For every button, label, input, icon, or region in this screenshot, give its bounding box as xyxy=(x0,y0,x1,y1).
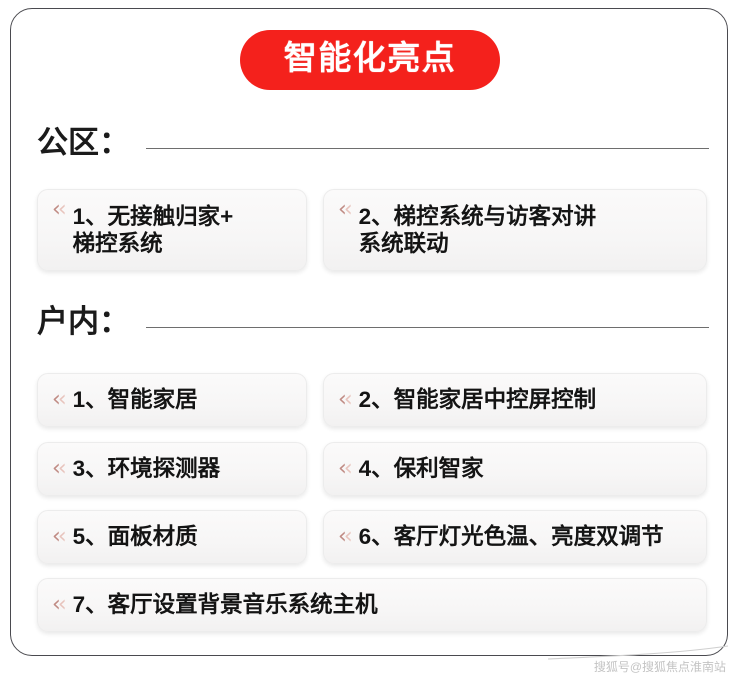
list-item-label: 1、无接触归家+ 梯控系统 xyxy=(73,203,234,258)
list-item-label: 5、面板材质 xyxy=(73,523,198,550)
list-item-label: 2、智能家居中控屏控制 xyxy=(359,386,597,413)
chevron-double-left-icon: ‹‹ xyxy=(338,199,350,221)
chevron-double-left-icon: ‹‹ xyxy=(52,526,64,548)
chevron-double-left-icon: ‹‹ xyxy=(338,458,350,480)
chevron-double-left-icon: ‹‹ xyxy=(338,389,350,411)
card-row: ‹‹ 1、智能家居 ‹‹ 2、智能家居中控屏控制 xyxy=(11,373,729,427)
list-item-label: 1、智能家居 xyxy=(73,386,198,413)
title-bar: 智能化亮点 xyxy=(11,30,729,90)
chevron-double-left-icon: ‹‹ xyxy=(52,389,64,411)
card-row: ‹‹ 1、无接触归家+ 梯控系统 ‹‹ 2、梯控系统与访客对讲 系统联动 xyxy=(11,189,729,271)
section-heading-public-area: 公区： xyxy=(11,127,729,158)
section-heading-label: 公区： xyxy=(37,127,130,158)
list-item-label: 6、客厅灯光色温、亮度双调节 xyxy=(359,523,664,550)
chevron-double-left-icon: ‹‹ xyxy=(338,526,350,548)
watermark: 搜狐号@搜狐焦点淮南站 xyxy=(520,633,740,673)
card-row: ‹‹ 5、面板材质 ‹‹ 6、客厅灯光色温、亮度双调节 xyxy=(11,510,729,564)
page-title: 智能化亮点 xyxy=(284,39,457,76)
title-pill: 智能化亮点 xyxy=(240,30,501,90)
section-heading-indoor: 户内： xyxy=(11,306,729,337)
section-heading-rule xyxy=(146,327,709,328)
list-item-label: 4、保利智家 xyxy=(359,455,484,482)
list-item[interactable]: ‹‹ 4、保利智家 xyxy=(323,442,707,496)
card-row: ‹‹ 3、环境探测器 ‹‹ 4、保利智家 xyxy=(11,442,729,496)
section-heading-label: 户内： xyxy=(37,306,130,337)
list-item[interactable]: ‹‹ 6、客厅灯光色温、亮度双调节 xyxy=(323,510,707,564)
list-item[interactable]: ‹‹ 3、环境探测器 xyxy=(37,442,307,496)
watermark-label: 搜狐号@搜狐焦点淮南站 xyxy=(594,658,726,675)
list-item-label: 7、客厅设置背景音乐系统主机 xyxy=(73,591,378,618)
list-item-label: 2、梯控系统与访客对讲 系统联动 xyxy=(359,203,597,258)
list-item[interactable]: ‹‹ 7、客厅设置背景音乐系统主机 xyxy=(37,578,707,632)
chevron-double-left-icon: ‹‹ xyxy=(52,199,64,221)
list-item-label: 3、环境探测器 xyxy=(73,455,221,482)
list-item[interactable]: ‹‹ 1、无接触归家+ 梯控系统 xyxy=(37,189,307,271)
list-item[interactable]: ‹‹ 2、梯控系统与访客对讲 系统联动 xyxy=(323,189,707,271)
card-row: ‹‹ 7、客厅设置背景音乐系统主机 xyxy=(11,578,729,632)
list-item[interactable]: ‹‹ 1、智能家居 xyxy=(37,373,307,427)
chevron-double-left-icon: ‹‹ xyxy=(52,594,64,616)
chevron-double-left-icon: ‹‹ xyxy=(52,458,64,480)
list-item[interactable]: ‹‹ 2、智能家居中控屏控制 xyxy=(323,373,707,427)
page-frame: 智能化亮点 公区： ‹‹ 1、无接触归家+ 梯控系统 ‹‹ 2、梯控系统与访客对… xyxy=(10,8,728,656)
section-heading-rule xyxy=(146,148,709,149)
list-item[interactable]: ‹‹ 5、面板材质 xyxy=(37,510,307,564)
